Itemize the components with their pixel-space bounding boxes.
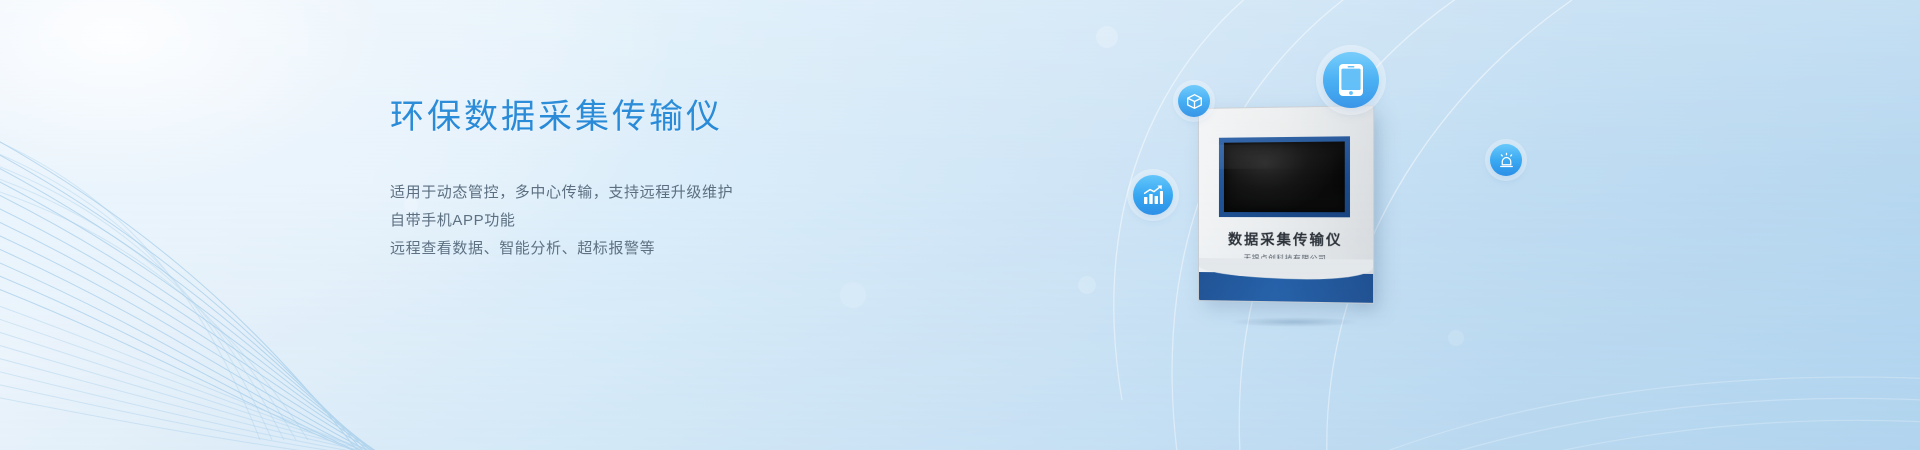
bokeh-circle-large [1096, 26, 1118, 48]
feature-item: 远程查看数据、智能分析、超标报警等 [390, 235, 950, 263]
device-drop-shadow [1201, 315, 1387, 329]
bokeh-circle-faint [1448, 330, 1464, 346]
bokeh-circle-medium [1078, 276, 1096, 294]
bar-chart-growth-icon[interactable] [1133, 175, 1173, 215]
feature-item: 自带手机APP功能 [390, 207, 950, 235]
page-title: 环保数据采集传输仪 [390, 96, 950, 139]
mobile-phone-icon[interactable] [1323, 52, 1379, 108]
feature-list: 适用于动态管控，多中心传输，支持远程升级维护 自带手机APP功能 远程查看数据、… [390, 179, 950, 263]
device-base-band [1199, 272, 1373, 303]
package-box-icon[interactable] [1178, 85, 1210, 117]
alarm-siren-icon[interactable] [1490, 144, 1522, 176]
device-front-panel: 数据采集传输仪 —无锡点创科技有限公司— [1198, 105, 1374, 304]
device-screen [1224, 141, 1345, 212]
device-title-label: 数据采集传输仪 [1199, 229, 1373, 250]
banner-copy: 环保数据采集传输仪 适用于动态管控，多中心传输，支持远程升级维护 自带手机APP… [390, 96, 950, 263]
hero-banner: 环保数据采集传输仪 适用于动态管控，多中心传输，支持远程升级维护 自带手机APP… [0, 0, 1920, 450]
feature-item: 适用于动态管控，多中心传输，支持远程升级维护 [390, 179, 950, 207]
device-screen-bezel [1219, 136, 1350, 217]
product-image: 数据采集传输仪 —无锡点创科技有限公司— [1185, 105, 1445, 320]
bokeh-circle-small [840, 282, 866, 308]
